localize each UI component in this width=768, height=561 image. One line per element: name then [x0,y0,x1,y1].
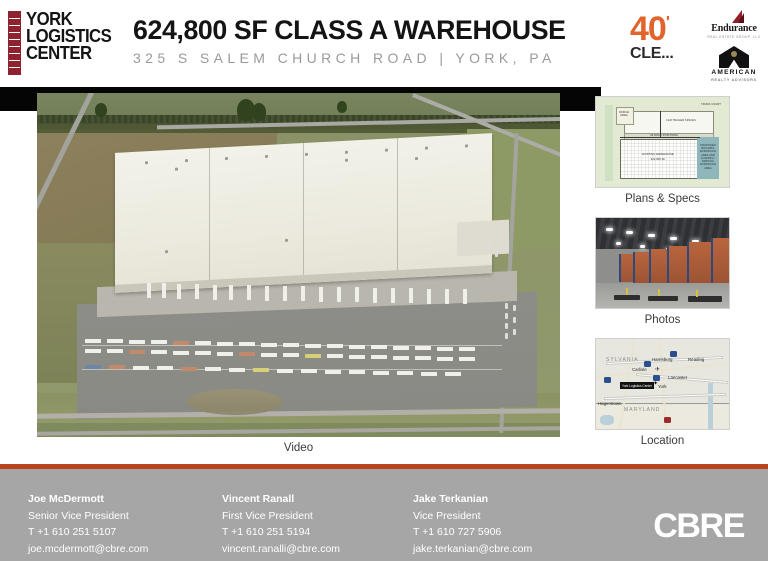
logo-line-3: CENTER [26,45,111,62]
american-tagline: REALTY ADVISORS [704,78,764,82]
contact-email[interactable]: jake.terkanian@cbre.com [413,541,532,558]
thumbnail-photos[interactable] [595,217,730,309]
plan-label-existing-sf: 624,800 SF [632,158,684,161]
thumbnail-caption-photos: Photos [595,314,730,326]
thumbnail-caption-plans-specs: Plans & Specs [595,193,730,205]
thumbnail-location[interactable]: SYLVANIA MARYLAND Harrisburg Carlisle Re… [595,338,730,430]
page-header: YORK LOGISTICS CENTER 624,800 SF CLASS A… [0,0,768,87]
contact-name: Vincent Ranall [222,491,340,508]
endurance-swoosh-icon [724,10,744,23]
contact-phone[interactable]: T +1 610 251 5194 [222,524,340,541]
contact-title: First Vice President [222,508,340,525]
map-city-carlisle: Carlisle [632,367,647,372]
map-city-hagerstown: Hagerstown [598,401,621,406]
american-realty-advisors-logo: AMERICAN REALTY ADVISORS [704,46,764,82]
partner-logos: Endurance REAL ESTATE GROUP, LLC AMERICA… [704,10,764,82]
clear-height-badge: 40' CLE... [630,14,692,62]
clear-height-value: 40 [630,10,666,48]
clear-height-number: 40' [630,14,692,45]
contact-phone[interactable]: T +1 610 727 5906 [413,524,532,541]
endurance-tagline: REAL ESTATE GROUP, LLC [704,35,764,39]
plan-label-office-area: OFFICE AREA [615,111,633,117]
logo-pattern-bar [8,11,21,75]
contact-email[interactable]: vincent.ranalli@cbre.com [222,541,340,558]
map-city-harrisburg: Harrisburg [652,357,673,362]
page-footer: Joe McDermott Senior Vice President T +1… [0,469,768,561]
map-callout-label: York Logistics Center [620,382,654,389]
page-title: 624,800 SF CLASS A WAREHOUSE [133,16,588,44]
contact-phone[interactable]: T +1 610 251 5107 [28,524,148,541]
york-logistics-center-logo: YORK LOGISTICS CENTER [8,11,118,77]
site-plan-image: CAR TRAILER SPACES 40 DOCK POSITIONS EXI… [596,97,729,187]
cbre-logo: CBRE [653,509,744,543]
contact-joe-mcdermott: Joe McDermott Senior Vice President T +1… [28,491,148,557]
plan-label-existing-warehouse: EXISTING WAREHOUSE [632,153,684,156]
logo-wordmark: YORK LOGISTICS CENTER [26,11,118,62]
contact-jake-terkanian: Jake Terkanian Vice President T +1 610 7… [413,491,532,557]
thumbnail-caption-location: Location [595,435,730,447]
plan-label-truck-court: TRUCK COURT [700,103,722,106]
contact-vincent-ranall: Vincent Ranall First Vice President T +1… [222,491,340,557]
clear-height-label: CLE... [630,46,692,62]
clear-height-unit: ' [666,13,669,32]
contact-title: Vice President [413,508,532,525]
map-airport-icon: ✈ [655,367,660,373]
regional-map-image: SYLVANIA MARYLAND Harrisburg Carlisle Re… [596,339,729,429]
thumbnail-plans-specs[interactable]: CAR TRAILER SPACES 40 DOCK POSITIONS EXI… [595,96,730,188]
map-state-maryland: MARYLAND [624,407,661,413]
video-caption: Video [37,442,560,454]
title-block: 624,800 SF CLASS A WAREHOUSE 325 S SALEM… [133,16,593,66]
thumbnail-column: CAR TRAILER SPACES 40 DOCK POSITIONS EXI… [595,96,730,459]
page-subtitle: 325 S SALEM CHURCH ROAD | YORK, PA [133,50,593,66]
map-city-lancaster: Lancaster [668,375,687,380]
american-diamond-icon [719,46,749,68]
plan-label-proposed: PROPOSED BUILDING EXPANSION AREA AND LOA… [698,144,718,170]
map-state-pennsylvania: SYLVANIA [606,357,639,363]
contact-title: Senior Vice President [28,508,148,525]
endurance-logo: Endurance REAL ESTATE GROUP, LLC [704,10,764,42]
contact-name: Joe McDermott [28,491,148,508]
warehouse-interior-image [596,218,729,308]
plan-label-trailer-spaces: CAR TRAILER SPACES [656,119,706,122]
endurance-name: Endurance [704,24,764,34]
map-city-reading: Reading [688,357,704,362]
aerial-photo-video[interactable] [37,93,560,437]
map-city-york: York [658,384,667,389]
aerial-photo-image [37,93,560,437]
contact-name: Jake Terkanian [413,491,532,508]
american-name: AMERICAN [704,70,764,77]
contact-email[interactable]: joe.mcdermott@cbre.com [28,541,148,558]
marketing-flyer-page: YORK LOGISTICS CENTER 624,800 SF CLASS A… [0,0,768,561]
